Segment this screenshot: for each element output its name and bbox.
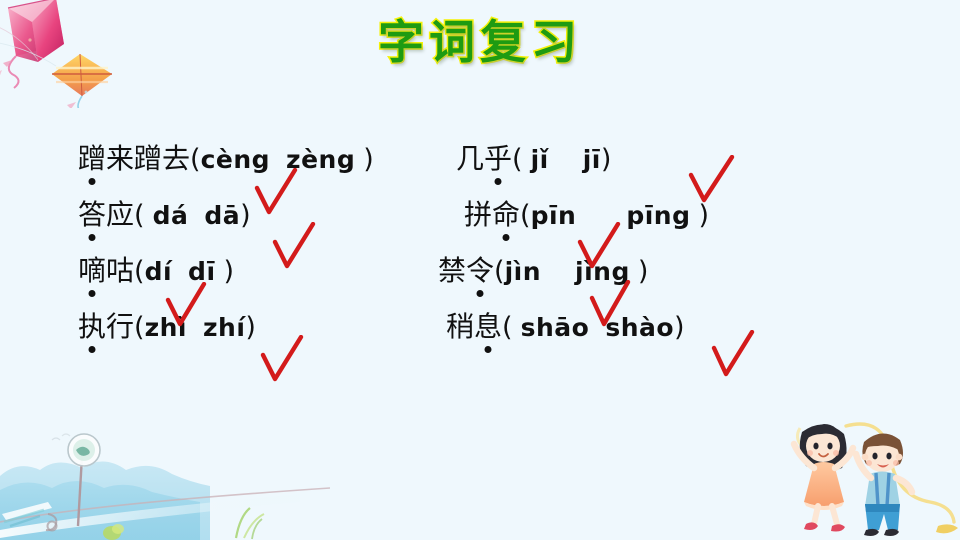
word-characters: 稍 (446, 310, 474, 343)
pinyin-option-a: jǐ (531, 145, 549, 174)
open-paren: ( (502, 312, 513, 343)
close-paren: ) (240, 200, 251, 231)
word-characters: 拼 (464, 198, 492, 231)
word-characters: 来蹭去 (106, 142, 190, 175)
word-item-zhixing: 执行(zhìzhí) (78, 310, 256, 345)
word-item-shaoxi: 稍息(shāoshào) (446, 310, 685, 345)
close-paren: ) (601, 144, 612, 175)
word-review-list: 蹭来蹭去(cèngzèng) 几乎(jǐjī) 答应(dádā) 拼命(pīnp… (78, 142, 898, 366)
word-item-jinling: 禁令(jìnjìng) (438, 254, 648, 289)
open-paren: ( (134, 200, 145, 231)
close-paren: ) (638, 256, 649, 287)
dotted-character: 蹭 (78, 142, 106, 176)
word-row: 执行(zhìzhí) 稍息(shāoshào) (78, 310, 898, 366)
dotted-character: 答 (78, 198, 106, 232)
dotted-character: 令 (466, 254, 494, 288)
two-children-jumprope-illustration (780, 410, 960, 540)
close-paren: ) (224, 256, 235, 287)
close-paren: ) (363, 144, 374, 175)
word-characters: 禁 (438, 254, 466, 287)
pinyin-option-a: dá (153, 201, 189, 230)
word-row: 嘀咕(dídī) 禁令(jìnjìng) (78, 254, 898, 310)
dotted-character: 嘀 (78, 254, 106, 288)
kites-illustration (0, 0, 169, 108)
open-paren: ( (134, 312, 145, 343)
word-characters: 咕 (106, 254, 134, 287)
pinyin-option-a: jìn (505, 257, 541, 286)
title-container: 字词复习 (0, 6, 960, 72)
word-item-pinming: 拼命(pīnpīng) (464, 198, 709, 233)
pinyin-option-a: shāo (521, 313, 590, 342)
pinyin-option-b: dā (204, 201, 240, 230)
close-paren: ) (245, 312, 256, 343)
word-item-dayingr: 答应(dádā) (78, 198, 251, 233)
page-title: 字词复习 (378, 6, 582, 72)
word-row: 答应(dádā) 拼命(pīnpīng) (78, 198, 898, 254)
pinyin-option-b: zèng (286, 145, 355, 174)
word-item-digu: 嘀咕(dídī) (78, 254, 234, 289)
word-row: 蹭来蹭去(cèngzèng) 几乎(jǐjī) (78, 142, 898, 198)
dotted-character: 息 (474, 310, 502, 344)
pinyin-option-a: dí (145, 257, 172, 286)
slide-canvas: 字词复习 蹭来蹭去(cèngzèng) 几乎(jǐjī) 答应(dádā) 拼命… (0, 0, 960, 540)
pinyin-option-a: zhì (145, 313, 187, 342)
pinyin-option-a: pīn (531, 201, 577, 230)
word-characters: 几 (456, 142, 484, 175)
open-paren: ( (190, 144, 201, 175)
dotted-character: 命 (492, 198, 520, 232)
watercolor-landscape-illustration (0, 430, 330, 540)
word-item-cengluicengqu: 蹭来蹭去(cèngzèng) (78, 142, 374, 177)
word-characters: 应 (106, 198, 134, 231)
close-paren: ) (699, 200, 710, 231)
open-paren: ( (512, 144, 523, 175)
open-paren: ( (520, 200, 531, 231)
pinyin-option-b: shào (605, 313, 674, 342)
pinyin-option-b: jìng (575, 257, 630, 286)
pinyin-option-b: pīng (626, 201, 690, 230)
word-item-jihu: 几乎(jǐjī) (456, 142, 611, 177)
pinyin-option-b: zhí (203, 313, 245, 342)
pinyin-option-a: cèng (201, 145, 270, 174)
dotted-character: 执 (78, 310, 106, 344)
dotted-character: 乎 (484, 142, 512, 176)
pinyin-option-b: dī (188, 257, 215, 286)
open-paren: ( (134, 256, 145, 287)
pinyin-option-b: jī (583, 145, 601, 174)
word-characters: 行 (106, 310, 134, 343)
close-paren: ) (674, 312, 685, 343)
open-paren: ( (494, 256, 505, 287)
